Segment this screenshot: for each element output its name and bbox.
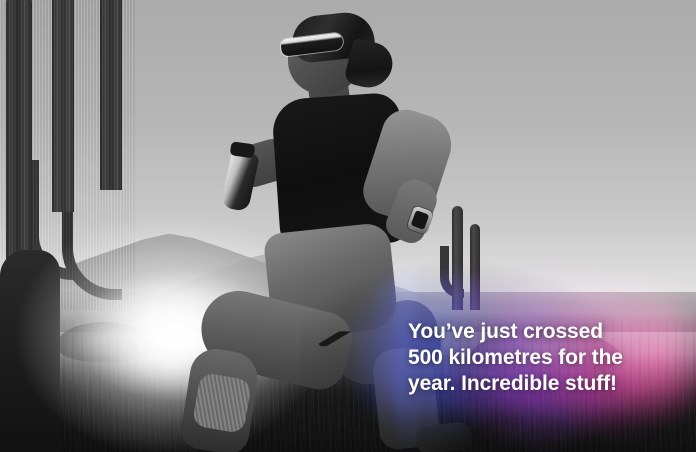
message-line-1: You’ve just crossed [408, 319, 670, 345]
water-bottle [220, 150, 259, 213]
runner-sock [192, 372, 253, 434]
message-line-2: 500 kilometres for the [408, 345, 670, 371]
achievement-message: You’ve just crossed 500 kilometres for t… [408, 319, 670, 397]
achievement-banner: You’ve just crossed 500 kilometres for t… [0, 0, 696, 452]
message-line-3: year. Incredible stuff! [408, 371, 670, 397]
bottle-cap [230, 141, 256, 158]
smartwatch-face [411, 210, 430, 230]
bandana-tail [343, 37, 397, 92]
